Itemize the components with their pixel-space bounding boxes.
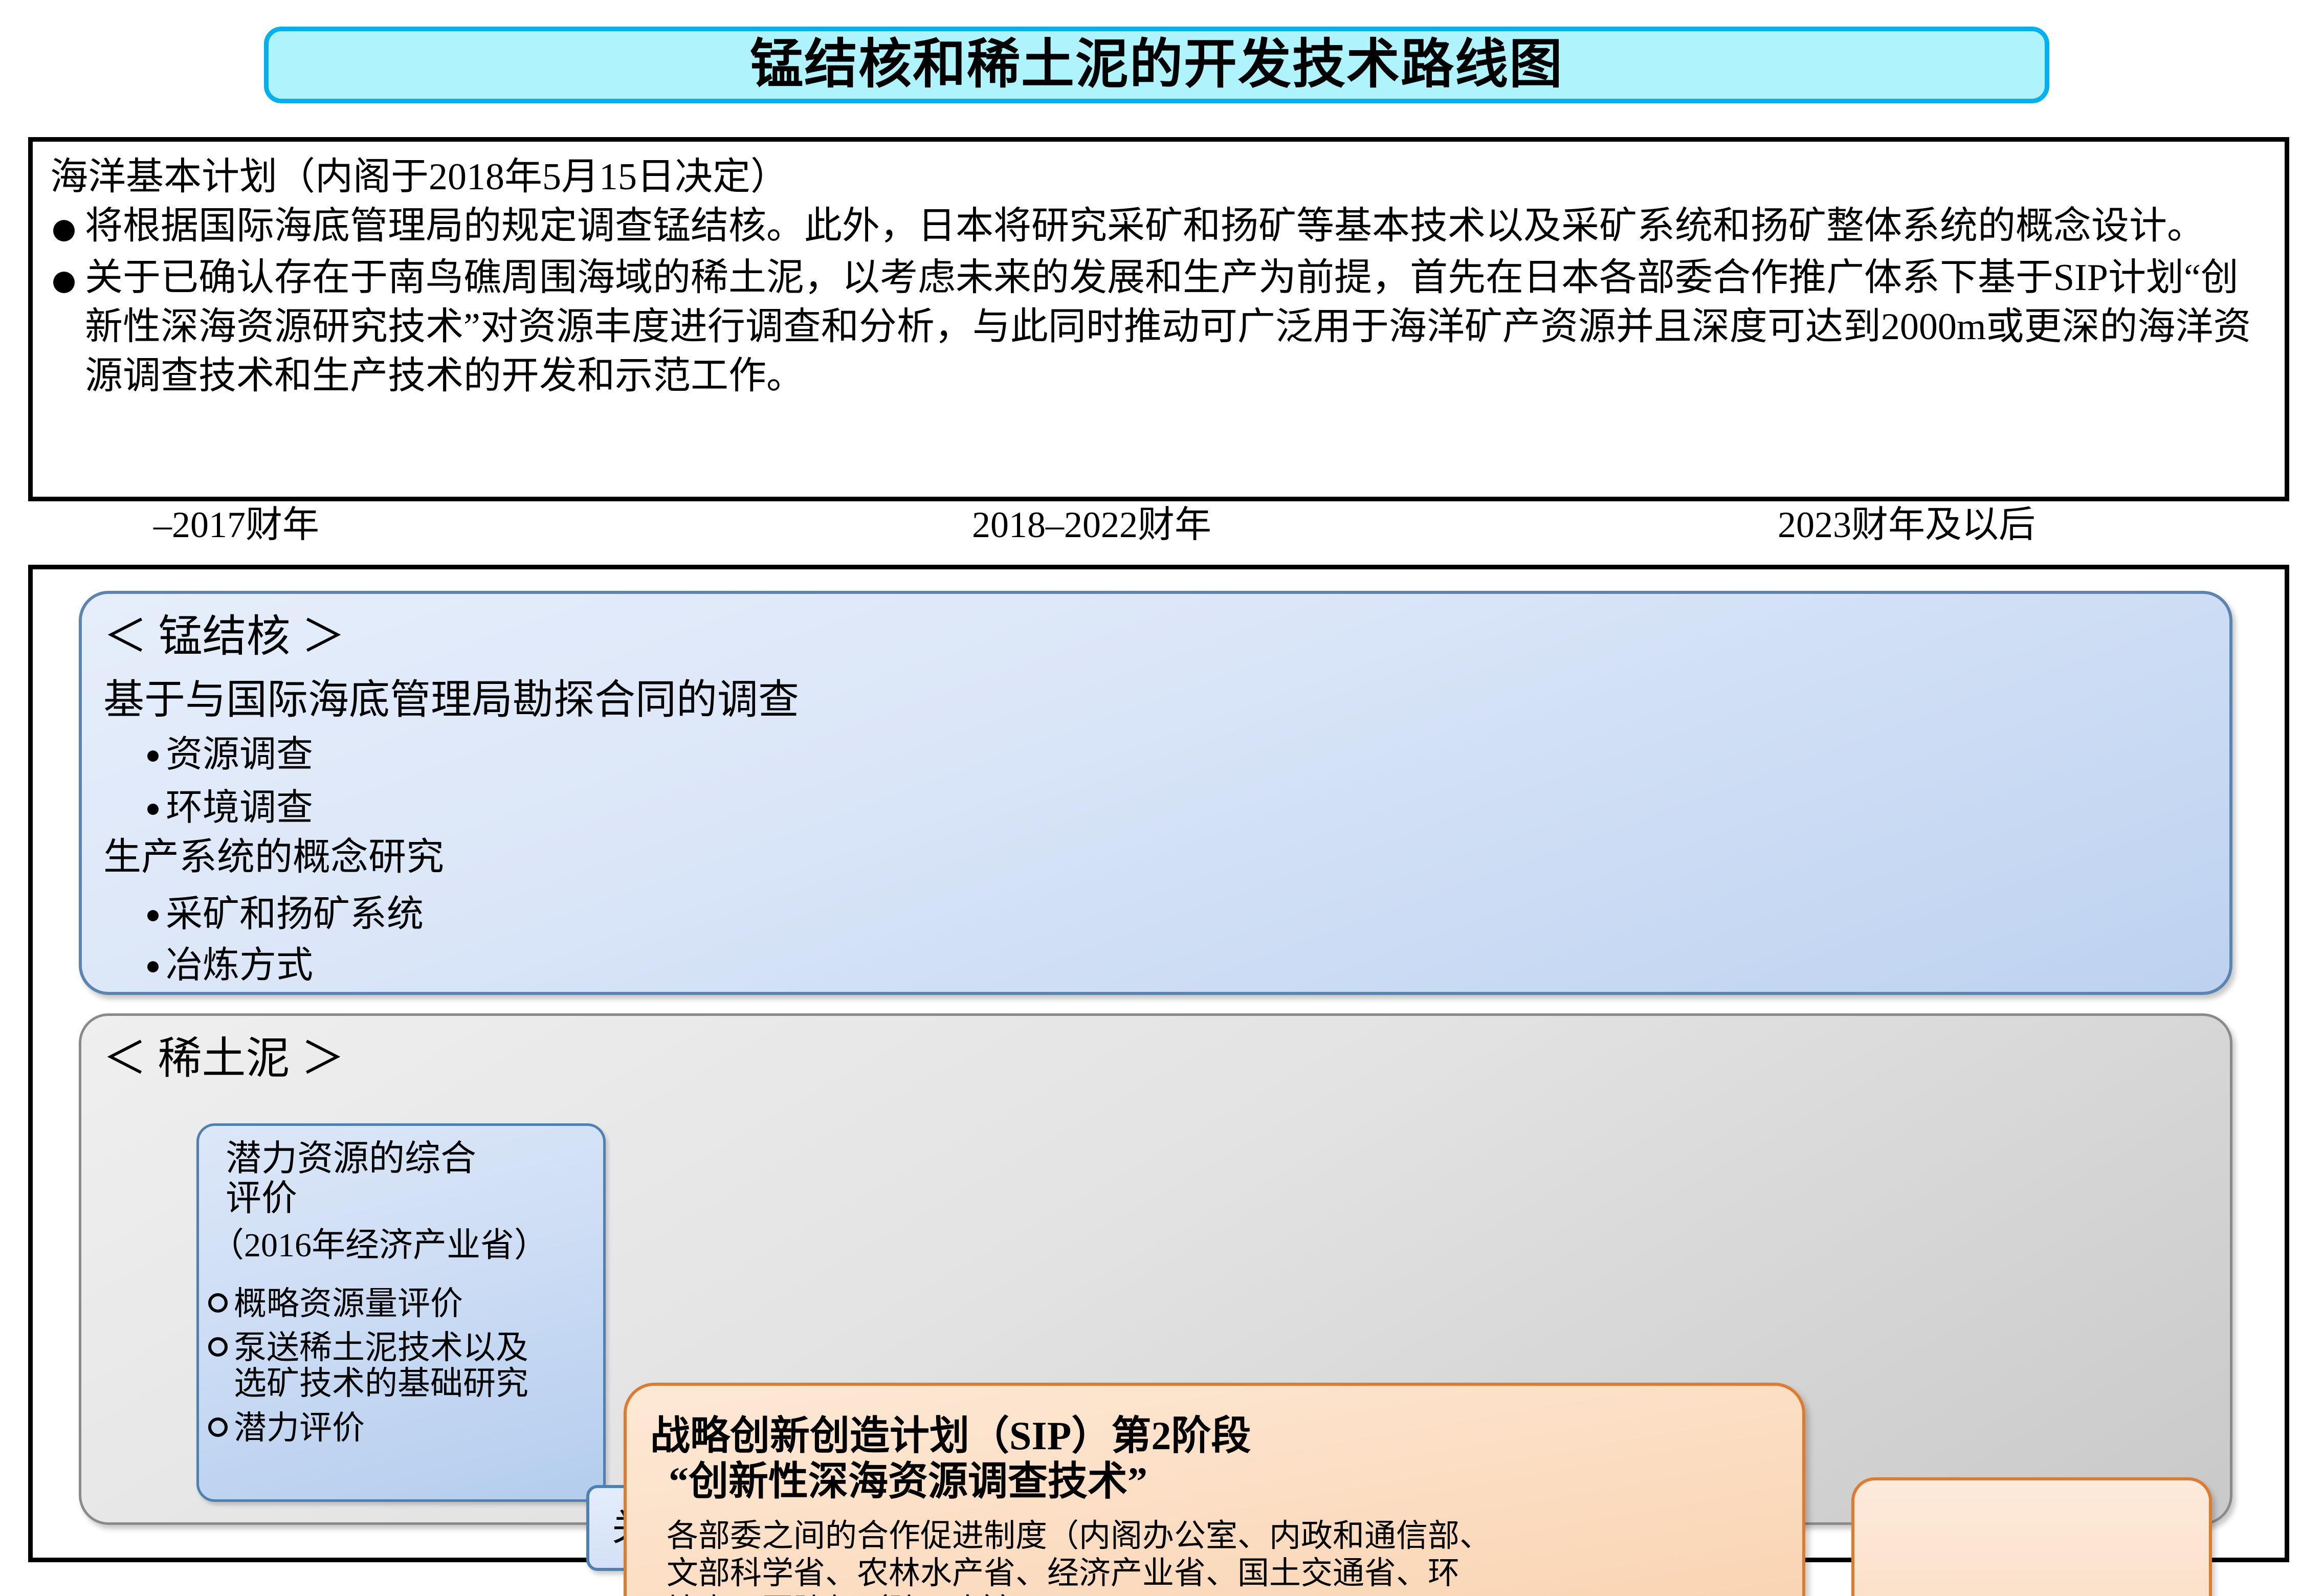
evaluation-item-1-label: 泵送稀土泥技术以及 选矿技术的基础研究 [234, 1330, 528, 1402]
bullet-dot-icon [147, 750, 159, 762]
policy-bullet-2-text: 关于已确认存在于南鸟礁周围海域的稀土泥，以考虑未来的发展和生产为前提，首先在日本… [85, 253, 2267, 401]
evaluation-item-2: 潜力评价 [199, 1410, 603, 1446]
timeline-period-3: 2023财年及以后 [1778, 506, 2036, 543]
manganese-concept-line: 生产系统的概念研究 [103, 838, 444, 876]
evaluation-item-0: 概略资源量评价 [199, 1286, 603, 1322]
manganese-concept-item-1: 冶炼方式 [147, 947, 313, 984]
manganese-survey-item-0: 资源调查 [147, 736, 313, 773]
policy-heading: 海洋基本计划（内阁于2018年5月15日决定） [50, 155, 2267, 199]
circle-bullet-icon [208, 1417, 228, 1437]
evaluation-item-2-label: 潜力评价 [234, 1410, 365, 1446]
timeline-period-2: 2018–2022财年 [972, 506, 1211, 543]
manganese-survey-item-1: 环境调查 [147, 789, 313, 826]
manganese-heading: ＜ 锰结核 ＞ [103, 614, 345, 658]
bullet-dot-icon [147, 804, 159, 815]
policy-summary-box: 海洋基本计划（内阁于2018年5月15日决定） 将根据国际海底管理局的规定调查锰… [28, 137, 2289, 501]
policy-bullet-1: 将根据国际海底管理局的规定调查锰结核。此外，日本将研究采矿和扬矿等基本技术以及采… [50, 202, 2267, 251]
manganese-nodule-panel: ＜ 锰结核 ＞ 基于与国际海底管理局勘探合同的调查 资源调查 环境调查 生产系统… [79, 591, 2232, 995]
potential-resource-evaluation-card: 潜力资源的综合 评价 （2016年经济产业省） 概略资源量评价 泵送稀土泥技术以… [196, 1123, 606, 1502]
sip-title-line2: “创新性深海资源调查技术” [650, 1459, 1779, 1504]
circle-bullet-icon [208, 1293, 228, 1313]
roadmap-main-frame: ＜ 锰结核 ＞ 基于与国际海底管理局勘探合同的调查 资源调查 环境调查 生产系统… [28, 565, 2289, 1562]
manganese-survey-item-1-label: 环境调查 [166, 789, 313, 826]
manganese-concept-item-0-label: 采矿和扬矿系统 [166, 896, 424, 933]
manganese-concept-item-1-label: 冶炼方式 [166, 947, 313, 984]
evaluation-title-line1: 潜力资源的综合 [199, 1139, 603, 1179]
sip-ministries-text: 各部委之间的合作促进制度（内阁办公室、内政和通信部、 文部科学省、农林水产省、经… [650, 1518, 1779, 1596]
manganese-survey-item-0-label: 资源调查 [166, 736, 313, 773]
policy-bullet-1-text: 将根据国际海底管理局的规定调查锰结核。此外，日本将研究采矿和扬矿等基本技术以及采… [85, 202, 2267, 251]
sip-outcome-card: 以SIP第二阶段 成果来探讨研究 方向 [1851, 1477, 2212, 1596]
bullet-dot-icon [147, 961, 159, 972]
manganese-concept-item-0: 采矿和扬矿系统 [147, 896, 424, 933]
evaluation-item-1: 泵送稀土泥技术以及 选矿技术的基础研究 [199, 1330, 603, 1402]
manganese-survey-line: 基于与国际海底管理局勘探合同的调查 [103, 680, 799, 721]
bullet-dot-icon [53, 272, 75, 293]
page-title-banner: 锰结核和稀土泥的开发技术路线图 [264, 27, 2049, 103]
rare-earth-heading: ＜ 稀土泥 ＞ [103, 1036, 345, 1080]
bullet-dot-icon [53, 220, 75, 241]
timeline-axis-labels: –2017财年 2018–2022财年 2023财年及以后 [28, 506, 2289, 552]
evaluation-source: （2016年经济产业省） [199, 1227, 603, 1265]
bullet-dot-icon [147, 910, 159, 921]
policy-bullet-2: 关于已确认存在于南鸟礁周围海域的稀土泥，以考虑未来的发展和生产为前提，首先在日本… [50, 253, 2267, 401]
page-title: 锰结核和稀土泥的开发技术路线图 [750, 38, 1563, 92]
evaluation-title-line2: 评价 [199, 1179, 603, 1219]
circle-bullet-icon [208, 1337, 228, 1357]
sip-phase2-card: 战略创新创造计划（SIP）第2阶段 “创新性深海资源调查技术” 各部委之间的合作… [624, 1383, 1805, 1596]
roadmap-page: 锰结核和稀土泥的开发技术路线图 海洋基本计划（内阁于2018年5月15日决定） … [0, 0, 2323, 1596]
timeline-period-1: –2017财年 [153, 506, 319, 543]
sip-title-line1: 战略创新创造计划（SIP）第2阶段 [650, 1413, 1779, 1459]
evaluation-item-0-label: 概略资源量评价 [234, 1286, 463, 1322]
